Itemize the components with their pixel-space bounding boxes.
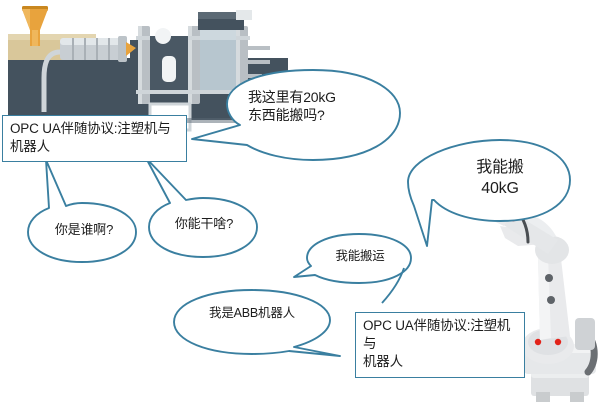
bubble-text-i-am-abb-robot: 我是ABB机器人	[192, 305, 312, 321]
svg-text:ABB: ABB	[496, 207, 518, 225]
label-machine-protocol: OPC UA伴随协议:注塑机与 机器人	[2, 115, 187, 162]
bubble-text-machine-payload-question: 我这里有20kG 东西能搬吗?	[248, 88, 374, 124]
bubble-text-who-are-you: 你是谁啊?	[32, 222, 136, 239]
bubble-b6-outline	[174, 290, 340, 356]
bubble-text-robot-payload-answer: 我能搬 40kG	[444, 158, 556, 200]
bubble-b3-outline	[28, 160, 136, 262]
label-robot-protocol: OPC UA伴随协议:注塑机与 机器人	[355, 312, 525, 378]
bubble-b4-outline	[146, 158, 257, 257]
diagram-canvas: ABB	[0, 0, 600, 408]
bubble-text-i-can-transport: 我能搬运	[312, 248, 408, 264]
bubble-b5-outline	[294, 234, 411, 303]
bubble-text-what-can-you-do: 你能干啥?	[152, 216, 256, 233]
